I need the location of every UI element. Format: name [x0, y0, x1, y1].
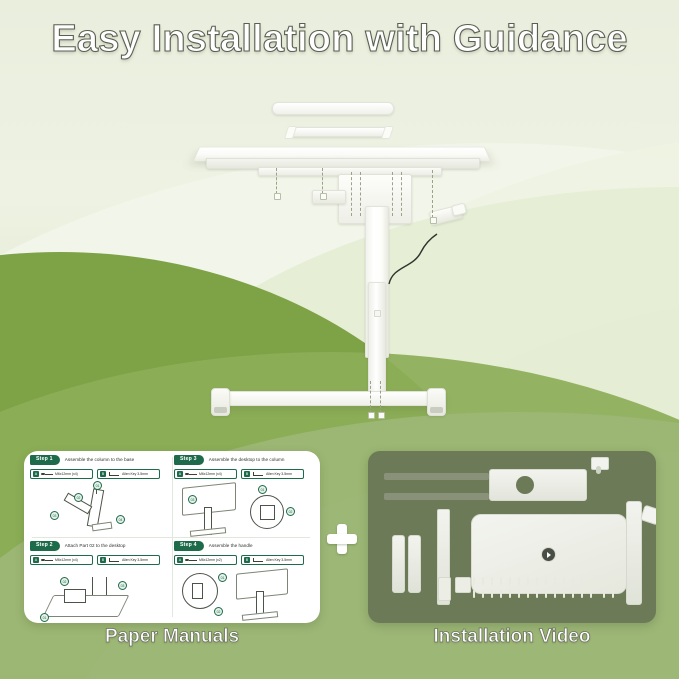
- step-diagram: 02 03 01: [30, 567, 171, 623]
- diagram-detail-part: [260, 505, 275, 520]
- page-title: Easy Installation with Guidance: [0, 18, 679, 61]
- video-part-leg-2: [408, 535, 421, 593]
- part-box: A M6x12mm (x4): [30, 555, 93, 566]
- part-key: A: [177, 557, 183, 563]
- diagram-base: [190, 527, 226, 537]
- video-part-bracket-square: [455, 577, 471, 593]
- feature-panels: Step 1 Assemble the column to the base A…: [0, 446, 679, 679]
- callout-marker: 03: [118, 581, 127, 590]
- part-key: A: [33, 471, 39, 477]
- screw-head: [320, 193, 327, 200]
- step-header: Step 3 Assemble the desktop to the colum…: [174, 455, 315, 465]
- part-key: B: [100, 557, 106, 563]
- video-part-rail-2: [384, 493, 489, 500]
- step-title: Attach Part 02 to the desktop: [65, 543, 126, 548]
- step-header: Step 2 Attach Part 02 to the desktop: [30, 541, 171, 551]
- manual-step-4: Step 4 Assemble the handle A M6x12mm (x2…: [174, 541, 315, 623]
- step-header: Step 4 Assemble the handle: [174, 541, 315, 551]
- screw-head: [378, 412, 385, 419]
- base-cross-bar: [216, 391, 446, 406]
- parts-callout-row: A M6x12mm (x2) B Allen Key 3-5mm: [174, 555, 315, 566]
- part-box: B Allen Key 3-5mm: [97, 555, 160, 566]
- diagram-base: [242, 611, 278, 621]
- part-text: M6x12mm (x4): [55, 472, 78, 476]
- diagram-desktop-flat: [43, 595, 130, 617]
- screw-head: [430, 217, 437, 224]
- callout-marker: 01: [258, 485, 267, 494]
- foot-left: [211, 388, 230, 416]
- diagram-leader-line: [92, 577, 93, 595]
- video-part-rail-1: [384, 473, 489, 480]
- diagram-leader-line: [106, 577, 107, 595]
- video-part-screw-set: [473, 577, 623, 599]
- screw-guide: [276, 168, 278, 194]
- installation-video-caption: Installation Video: [368, 626, 656, 648]
- video-part-bracket-frame: [489, 469, 587, 501]
- part-box: B Allen Key 3-5mm: [97, 469, 160, 480]
- parts-callout-row: A M6x12mm (x4) B Allen Key 3-5mm: [30, 469, 171, 480]
- step-diagram: 01 02 03: [174, 481, 315, 539]
- step-diagram: 01 02 03 04: [30, 481, 171, 539]
- video-part-knob-stem: [596, 466, 601, 474]
- diagram-bracket: [64, 589, 86, 603]
- screw-guide: [370, 381, 372, 413]
- bracket-arm: [312, 190, 346, 204]
- bolt-icon: [185, 557, 197, 562]
- screw-guide: [351, 172, 353, 216]
- part-text: M6x12mm (x2): [199, 558, 222, 562]
- screw-guide: [380, 381, 382, 413]
- step-badge: Step 3: [174, 455, 204, 465]
- step-badge: Step 4: [174, 541, 204, 551]
- step-header: Step 1 Assemble the column to the base: [30, 455, 171, 465]
- part-key: A: [177, 471, 183, 477]
- video-part-leg-1: [392, 535, 405, 593]
- step-badge: Step 2: [30, 541, 60, 551]
- parts-callout-row: A M6x12mm (x4) B Allen Key 3-5mm: [174, 469, 315, 480]
- callout-marker: 04: [116, 515, 125, 524]
- screw-guide: [392, 172, 394, 216]
- screw-guide: [401, 172, 403, 216]
- screw-guide: [432, 170, 434, 218]
- manual-step-3: Step 3 Assemble the desktop to the colum…: [174, 455, 315, 537]
- diagram-foot: [92, 522, 113, 532]
- bolt-icon: [185, 471, 197, 476]
- step-badge: Step 1: [30, 455, 60, 465]
- step-diagram: 01 02: [174, 567, 315, 623]
- plus-icon: [327, 524, 357, 554]
- video-part-column-2: [626, 501, 642, 605]
- play-icon[interactable]: [541, 547, 556, 562]
- rail-bracket-lower: [290, 127, 388, 137]
- part-box: A M6x12mm (x4): [174, 469, 237, 480]
- installation-video-card[interactable]: [368, 451, 656, 623]
- bolt-icon: [41, 557, 53, 562]
- part-key: B: [244, 557, 250, 563]
- screw-head: [368, 412, 375, 419]
- step-title: Assemble the column to the base: [65, 457, 134, 462]
- part-text: M6x12mm (x4): [199, 472, 222, 476]
- part-box: B Allen Key 3-5mm: [241, 469, 304, 480]
- bolt-icon: [41, 471, 53, 476]
- foot-right: [427, 388, 446, 416]
- allen-key-icon: [252, 557, 264, 562]
- callout-marker: 01: [218, 573, 227, 582]
- part-text: Allen Key 3-5mm: [266, 472, 292, 476]
- part-box: A M6x12mm (x4): [30, 469, 93, 480]
- callout-marker: 03: [50, 511, 59, 520]
- parts-callout-row: A M6x12mm (x4) B Allen Key 3-5mm: [30, 555, 171, 566]
- part-key: A: [33, 557, 39, 563]
- allen-key-icon: [252, 471, 264, 476]
- callout-marker: 01: [40, 613, 49, 622]
- paper-manuals-caption: Paper Manuals: [24, 626, 320, 648]
- video-part-mounting-plate: [438, 577, 451, 601]
- video-part-handle: [640, 505, 656, 526]
- promo-graphic: Easy Installation with Guidance: [0, 0, 679, 679]
- part-box: B Allen Key 3-5mm: [241, 555, 304, 566]
- diagram-handle-mount: [192, 583, 203, 599]
- power-cable-icon: [387, 226, 439, 288]
- screw-head: [274, 193, 281, 200]
- manual-step-2: Step 2 Attach Part 02 to the desktop A M…: [30, 541, 171, 623]
- part-key: B: [100, 471, 106, 477]
- allen-key-icon: [108, 471, 120, 476]
- part-text: Allen Key 3-5mm: [266, 558, 292, 562]
- part-text: M6x12mm (x4): [55, 558, 78, 562]
- part-text: Allen Key 3-5mm: [122, 558, 148, 562]
- screw-guide: [360, 172, 362, 216]
- screw-guide: [322, 168, 324, 194]
- allen-key-icon: [108, 557, 120, 562]
- rail-bracket-upper: [272, 102, 394, 115]
- step-title: Assemble the handle: [209, 543, 253, 548]
- callout-marker: 02: [214, 607, 223, 616]
- callout-marker: 02: [60, 577, 69, 586]
- column-label-plate: [374, 310, 381, 317]
- callout-marker: 02: [286, 507, 295, 516]
- part-key: B: [244, 471, 250, 477]
- manual-step-1: Step 1 Assemble the column to the base A…: [30, 455, 171, 537]
- part-text: Allen Key 3-5mm: [122, 472, 148, 476]
- product-illustration: [0, 86, 679, 436]
- handle-knob: [451, 202, 467, 216]
- step-title: Assemble the desktop to the column: [209, 457, 285, 462]
- paper-manual-card[interactable]: Step 1 Assemble the column to the base A…: [24, 451, 320, 623]
- bracket-hole-left: [516, 476, 534, 494]
- part-box: A M6x12mm (x2): [174, 555, 237, 566]
